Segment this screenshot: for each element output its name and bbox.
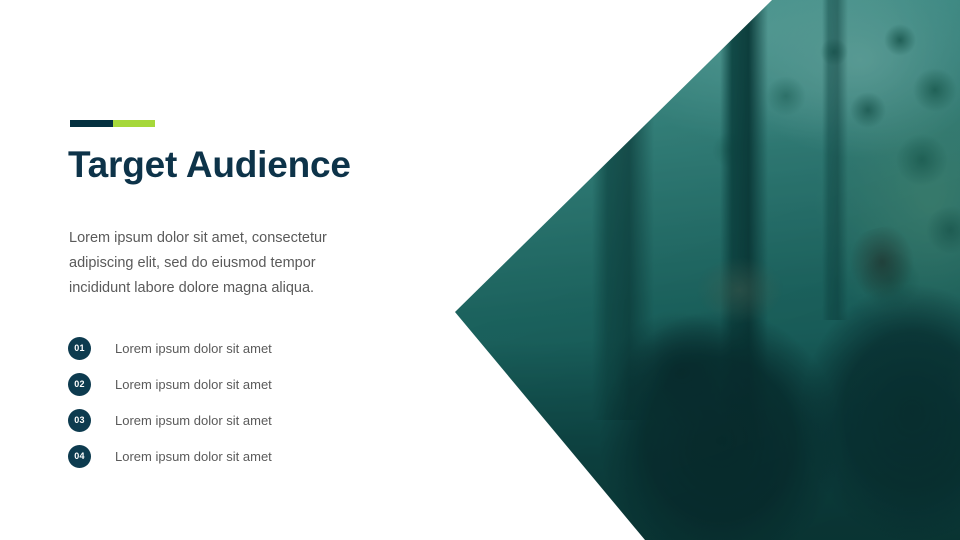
- slide-root: Target Audience Lorem ipsum dolor sit am…: [0, 0, 960, 540]
- bullet-label: Lorem ipsum dolor sit amet: [115, 450, 272, 463]
- bullet-number-badge: 01: [68, 337, 91, 360]
- bullet-label: Lorem ipsum dolor sit amet: [115, 342, 272, 355]
- list-item[interactable]: 02 Lorem ipsum dolor sit amet: [68, 366, 398, 402]
- accent-bar: [70, 120, 155, 127]
- bullet-number-badge: 04: [68, 445, 91, 468]
- bullet-label: Lorem ipsum dolor sit amet: [115, 378, 272, 391]
- list-item[interactable]: 03 Lorem ipsum dolor sit amet: [68, 402, 398, 438]
- forest-photo: [430, 0, 960, 540]
- photo-teal-tint: [430, 0, 960, 540]
- page-title: Target Audience: [68, 145, 351, 186]
- bullet-label: Lorem ipsum dolor sit amet: [115, 414, 272, 427]
- accent-bar-lime-segment: [113, 120, 155, 127]
- body-paragraph: Lorem ipsum dolor sit amet, consectetur …: [69, 226, 379, 301]
- list-item[interactable]: 01 Lorem ipsum dolor sit amet: [68, 330, 398, 366]
- accent-bar-dark-segment: [70, 120, 113, 127]
- bullet-number-badge: 03: [68, 409, 91, 432]
- bullet-number-badge: 02: [68, 373, 91, 396]
- hero-image-panel: [430, 0, 960, 540]
- numbered-bullet-list: 01 Lorem ipsum dolor sit amet 02 Lorem i…: [68, 330, 398, 474]
- list-item[interactable]: 04 Lorem ipsum dolor sit amet: [68, 438, 398, 474]
